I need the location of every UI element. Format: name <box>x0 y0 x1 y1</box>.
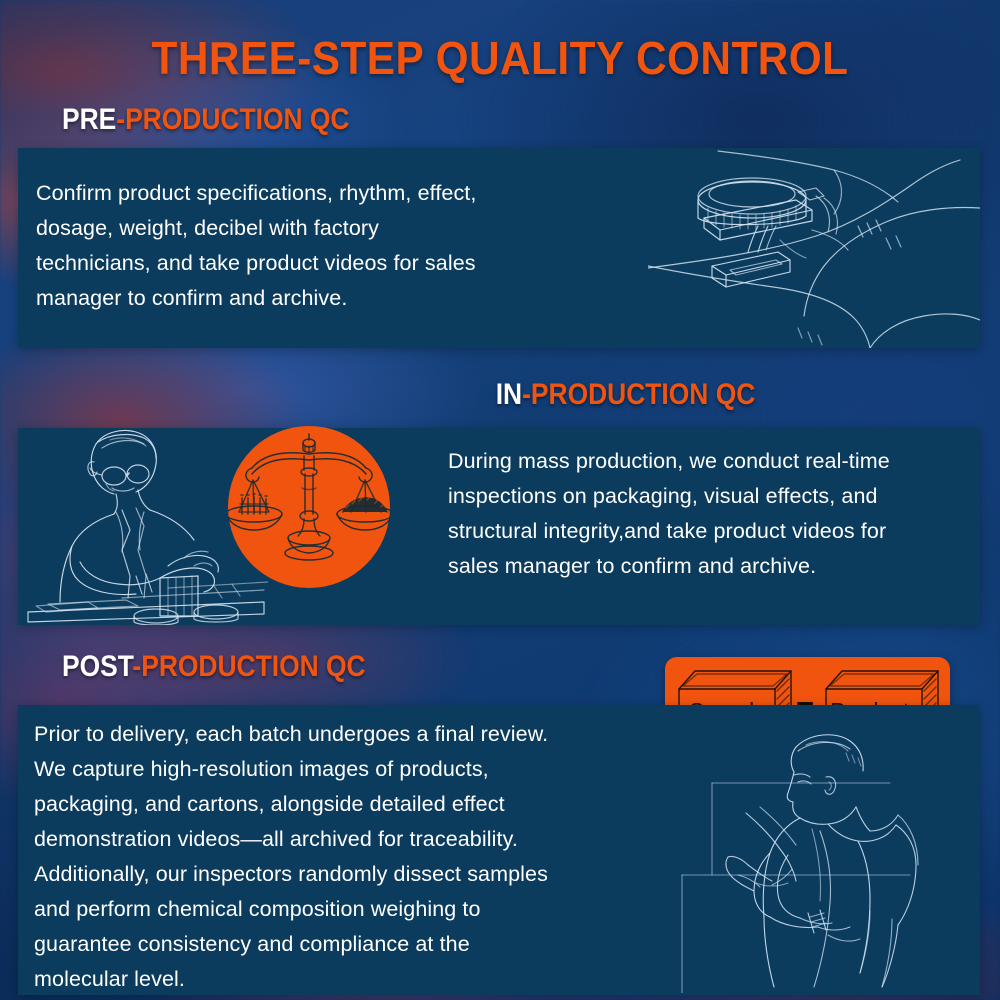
infographic-page: THREE-STEP QUALITY CONTROL PRE-PRODUCTIO… <box>0 0 1000 1000</box>
balance-scale-icon <box>228 426 390 588</box>
step-heading-pre-production: PRE-PRODUCTION QC <box>62 103 349 137</box>
step-heading-post-production: POST-PRODUCTION QC <box>62 650 366 684</box>
panel-text-post-production: Prior to delivery, each batch undergoes … <box>34 717 674 997</box>
step-heading-suffix: -PRODUCTION QC <box>116 103 349 136</box>
step-heading-suffix: -PRODUCTION QC <box>132 650 365 683</box>
panel-text-pre-production: Confirm product specifications, rhythm, … <box>36 176 636 316</box>
step-heading-prefix: POST <box>62 650 132 683</box>
step-heading-suffix: -PRODUCTION QC <box>522 378 755 411</box>
balance-scale-badge <box>228 426 390 588</box>
step-heading-prefix: PRE <box>62 103 116 136</box>
panel-pre-production: Confirm product specifications, rhythm, … <box>18 148 980 348</box>
panel-in-production: During mass production, we conduct real-… <box>18 428 980 625</box>
hands-holding-device-illustration <box>648 148 980 348</box>
panel-post-production: Prior to delivery, each batch undergoes … <box>18 705 980 995</box>
page-title: THREE-STEP QUALITY CONTROL <box>40 33 960 83</box>
step-heading-in-production: IN-PRODUCTION QC <box>496 378 756 412</box>
panel-text-in-production: During mass production, we conduct real-… <box>448 444 993 584</box>
step-heading-prefix: IN <box>496 378 522 411</box>
inspector-with-tablet-illustration <box>660 725 980 993</box>
